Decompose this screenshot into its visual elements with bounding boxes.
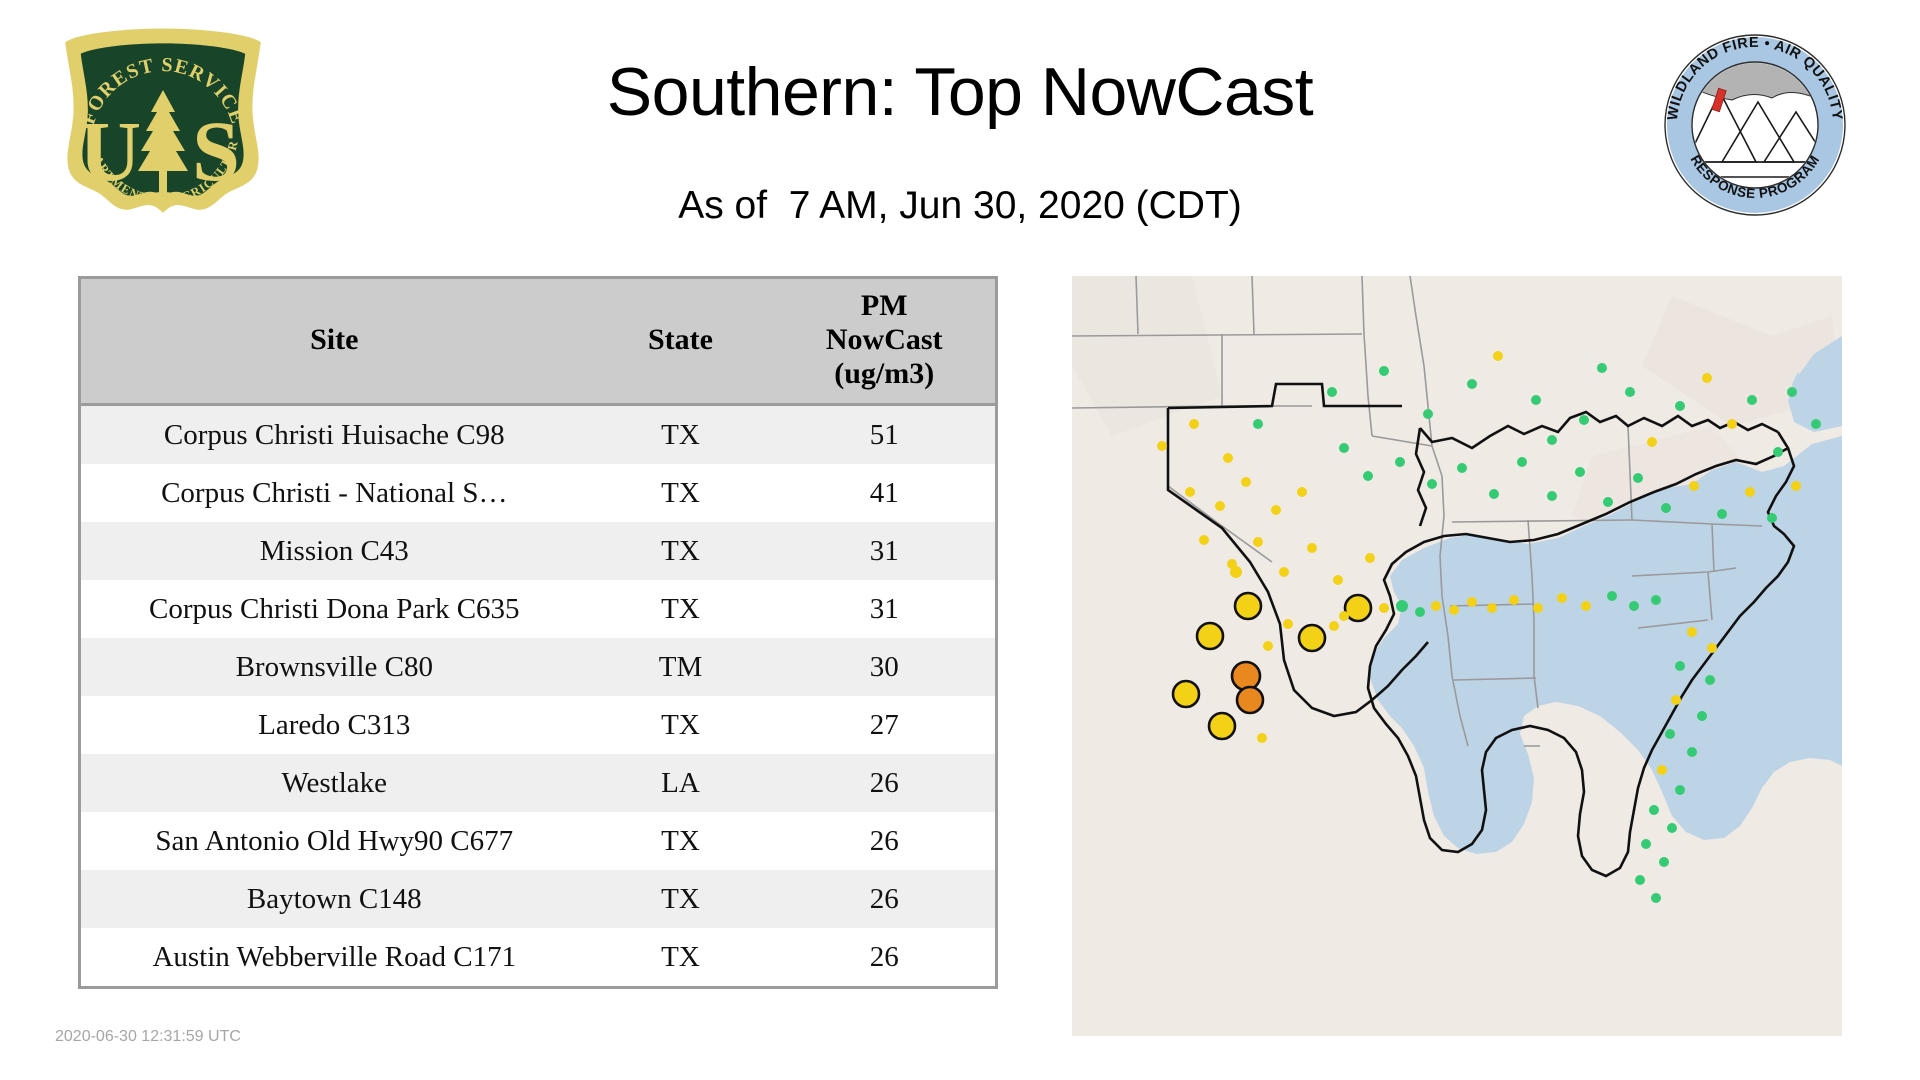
column-header-state[interactable]: State (588, 279, 774, 405)
cell-site: Baytown C148 (81, 870, 588, 928)
map-marker[interactable] (1625, 387, 1635, 397)
column-header-pm-nowcast[interactable]: PM NowCast (ug/m3) (773, 279, 995, 405)
us-forest-service-shield-logo: FOREST SERVICE DEPARTMENT OF AGRICULTURE… (58, 28, 268, 228)
column-header-site[interactable]: Site (81, 279, 588, 405)
table-row[interactable]: Corpus Christi Dona Park C635TX31 (81, 580, 995, 638)
table-row[interactable]: Baytown C148TX26 (81, 870, 995, 928)
table-row[interactable]: WestlakeLA26 (81, 754, 995, 812)
map-marker[interactable] (1717, 509, 1727, 519)
map-marker[interactable] (1727, 419, 1737, 429)
cell-pm-nowcast: 31 (773, 522, 995, 580)
map-marker[interactable] (1333, 575, 1343, 585)
cell-state: TX (588, 870, 774, 928)
table-body: Corpus Christi Huisache C98TX51Corpus Ch… (81, 405, 995, 987)
cell-pm-nowcast: 26 (773, 870, 995, 928)
map-marker[interactable] (1489, 489, 1499, 499)
map-marker[interactable] (1365, 553, 1375, 563)
cell-site: Brownsville C80 (81, 638, 588, 696)
cell-site: Corpus Christi Huisache C98 (81, 405, 588, 465)
map-marker[interactable] (1363, 471, 1373, 481)
cell-state: TX (588, 522, 774, 580)
map-marker[interactable] (1457, 463, 1467, 473)
cell-pm-nowcast: 31 (773, 580, 995, 638)
cell-state: TX (588, 405, 774, 465)
cell-state: TX (588, 580, 774, 638)
map-marker[interactable] (1271, 505, 1281, 515)
map-marker[interactable] (1747, 395, 1757, 405)
map-marker[interactable] (1253, 537, 1263, 547)
map-marker[interactable] (1767, 513, 1777, 523)
table-row[interactable]: Brownsville C80TM30 (81, 638, 995, 696)
cell-pm-nowcast: 51 (773, 405, 995, 465)
cell-pm-nowcast: 26 (773, 812, 995, 870)
page-subtitle: As of 7 AM, Jun 30, 2020 (CDT) (280, 183, 1640, 229)
cell-state: TX (588, 696, 774, 754)
map-marker[interactable] (1253, 419, 1263, 429)
cell-site: San Antonio Old Hwy90 C677 (81, 812, 588, 870)
table-row[interactable]: Laredo C313TX27 (81, 696, 995, 754)
air-quality-map[interactable]: Air Quality Index HazardousVery Unhealth… (1072, 276, 1842, 1036)
map-marker[interactable] (1241, 477, 1251, 487)
cell-state: TX (588, 928, 774, 986)
map-marker[interactable] (1493, 351, 1503, 361)
map-marker[interactable] (1689, 481, 1699, 491)
cell-state: TX (588, 464, 774, 522)
map-marker[interactable] (1647, 437, 1657, 447)
map-marker[interactable] (1597, 363, 1607, 373)
map-marker[interactable] (1327, 387, 1337, 397)
cell-pm-nowcast: 26 (773, 928, 995, 986)
map-marker[interactable] (1379, 366, 1389, 376)
cell-site: Corpus Christi Dona Park C635 (81, 580, 588, 638)
cell-pm-nowcast: 41 (773, 464, 995, 522)
table-row[interactable]: San Antonio Old Hwy90 C677TX26 (81, 812, 995, 870)
cell-pm-nowcast: 26 (773, 754, 995, 812)
map-marker[interactable] (1307, 543, 1317, 553)
map-marker[interactable] (1547, 435, 1557, 445)
cell-site: Laredo C313 (81, 696, 588, 754)
map-marker[interactable] (1339, 443, 1349, 453)
map-marker[interactable] (1773, 447, 1783, 457)
map-marker[interactable] (1745, 487, 1755, 497)
map-marker[interactable] (1603, 497, 1613, 507)
table-row[interactable]: Austin Webberville Road C171TX26 (81, 928, 995, 986)
column-header-pm-line-1: PM (777, 289, 991, 323)
wfaqrp-seal-logo: WILDLAND FIRE • AIR QUALITY RESPONSE PRO… (1660, 30, 1850, 220)
column-header-pm-line-3: (ug/m3) (777, 357, 991, 391)
map-marker[interactable] (1185, 487, 1195, 497)
map-marker[interactable] (1279, 567, 1289, 577)
map-marker[interactable] (1579, 415, 1589, 425)
map-marker[interactable] (1575, 467, 1585, 477)
map-marker[interactable] (1702, 373, 1712, 383)
map-marker[interactable] (1427, 479, 1437, 489)
map-marker[interactable] (1223, 453, 1233, 463)
cell-pm-nowcast: 30 (773, 638, 995, 696)
map-marker[interactable] (1395, 457, 1405, 467)
map-marker[interactable] (1661, 503, 1671, 513)
table-header: Site State PM NowCast (ug/m3) (81, 279, 995, 405)
map-marker[interactable] (1189, 419, 1199, 429)
slide-root: FOREST SERVICE DEPARTMENT OF AGRICULTURE… (0, 0, 1920, 1080)
map-marker[interactable] (1787, 387, 1797, 397)
cell-state: TM (588, 638, 774, 696)
page-title: Southern: Top NowCast (280, 52, 1640, 132)
map-marker[interactable] (1517, 457, 1527, 467)
cell-state: LA (588, 754, 774, 812)
map-marker[interactable] (1215, 501, 1225, 511)
cell-site: Corpus Christi - National S… (81, 464, 588, 522)
cell-site: Mission C43 (81, 522, 588, 580)
cell-site: Austin Webberville Road C171 (81, 928, 588, 986)
map-marker[interactable] (1467, 379, 1477, 389)
table-row[interactable]: Mission C43TX31 (81, 522, 995, 580)
column-header-pm-line-2: NowCast (777, 323, 991, 357)
map-marker[interactable] (1157, 441, 1167, 451)
map-marker[interactable] (1199, 535, 1209, 545)
nowcast-table: Site State PM NowCast (ug/m3) Corpus Chr… (81, 279, 995, 986)
svg-text:U: U (79, 103, 141, 199)
table-header-row: Site State PM NowCast (ug/m3) (81, 279, 995, 405)
footer-timestamp: 2020-06-30 12:31:59 UTC (55, 1028, 241, 1046)
table-row[interactable]: Corpus Christi - National S…TX41 (81, 464, 995, 522)
map-marker[interactable] (1423, 409, 1433, 419)
svg-text:S: S (192, 103, 240, 199)
map-marker[interactable] (1633, 473, 1643, 483)
table-row[interactable]: Corpus Christi Huisache C98TX51 (81, 405, 995, 465)
nowcast-table-container: Site State PM NowCast (ug/m3) Corpus Chr… (78, 276, 998, 989)
map-marker[interactable] (1531, 395, 1541, 405)
cell-site: Westlake (81, 754, 588, 812)
map-marker[interactable] (1811, 419, 1821, 429)
cell-pm-nowcast: 27 (773, 696, 995, 754)
cell-state: TX (588, 812, 774, 870)
map-marker[interactable] (1297, 487, 1307, 497)
map-marker[interactable] (1675, 401, 1685, 411)
map-marker[interactable] (1547, 491, 1557, 501)
map-marker[interactable] (1791, 481, 1801, 491)
